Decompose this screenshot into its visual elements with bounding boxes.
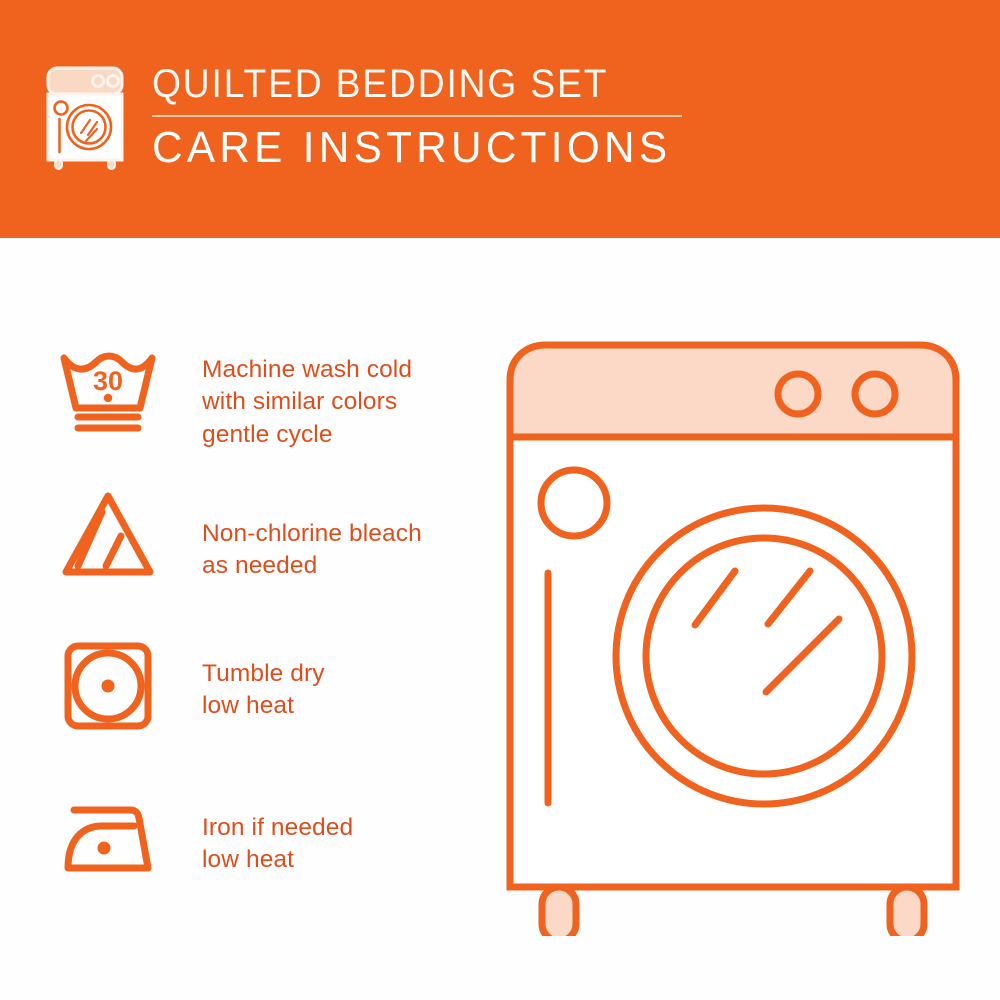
care-text: Iron if needed low heat [202,782,353,877]
header-title-block: QUILTED BEDDING SET CARE INSTRUCTIONS [152,64,693,170]
page-header: QUILTED BEDDING SET CARE INSTRUCTIONS [0,0,1000,238]
care-text: Tumble dry low heat [202,632,325,723]
washing-machine-icon [44,64,126,170]
care-text: Machine wash cold with similar colors ge… [202,332,412,451]
knob-1 [778,374,818,414]
care-row: Non-chlorine bleach as needed [56,482,476,632]
care-line: with similar colors [202,386,412,418]
washing-machine-illustration [498,336,968,936]
iron-low-heat-symbol [56,782,160,886]
care-row: Tumble dry low heat [56,632,476,782]
tumble-dry-low-heat-symbol [56,632,160,736]
care-line: as needed [202,550,422,582]
leg-left [542,887,576,936]
wash-temp-label: 30 [93,366,123,396]
care-line: Non-chlorine bleach [202,518,422,550]
care-line: gentle cycle [202,419,412,451]
page-title: QUILTED BEDDING SET [152,64,655,104]
non-chlorine-bleach-triangle-symbol [56,482,160,586]
care-instruction-list: 30 Machine wash cold with similar colors… [56,332,476,932]
page-subtitle: CARE INSTRUCTIONS [152,126,671,170]
care-line: low heat [202,690,325,722]
knob-2 [855,374,895,414]
machine-wash-30-symbol: 30 [56,332,160,436]
care-line: low heat [202,844,353,876]
header-content: QUILTED BEDDING SET CARE INSTRUCTIONS [44,64,693,170]
care-line: Iron if needed [202,812,353,844]
machine-body [510,437,956,887]
care-instructions-page: QUILTED BEDDING SET CARE INSTRUCTIONS 30… [0,0,1000,1000]
care-line: Machine wash cold [202,354,412,386]
care-line: Tumble dry [202,658,325,690]
leg-right [890,887,924,936]
care-text: Non-chlorine bleach as needed [202,482,422,583]
title-divider [152,115,682,117]
care-row: Iron if needed low heat [56,782,476,932]
care-row: 30 Machine wash cold with similar colors… [56,332,476,482]
